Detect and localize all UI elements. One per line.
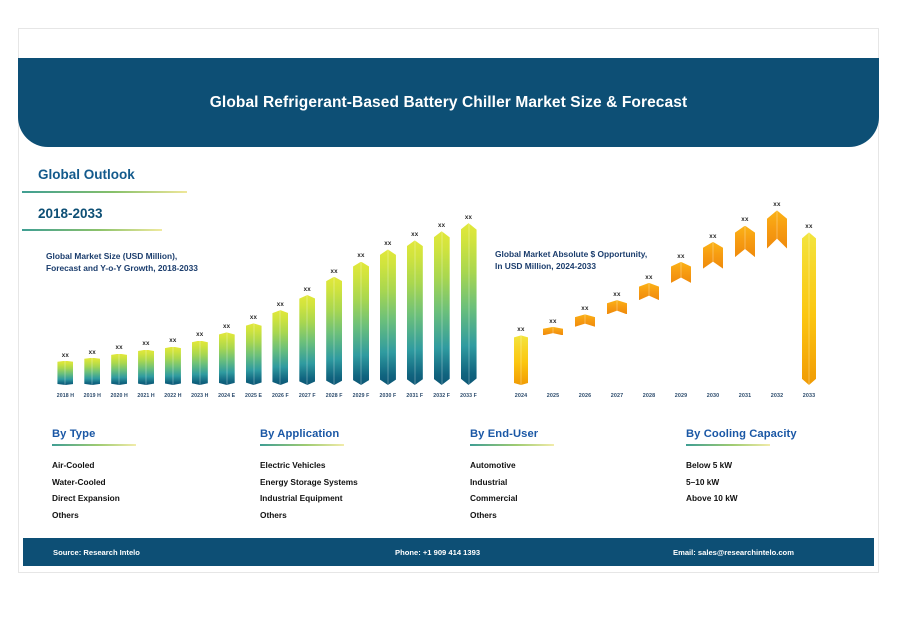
x-axis-tick: 2027 F [299, 394, 316, 399]
bar-value-label: xx [330, 269, 337, 275]
bar-2030: xx [697, 234, 729, 269]
bar-value-label: xx [709, 234, 716, 240]
bar-column [671, 262, 691, 283]
bar-2023-h: xx [186, 332, 213, 385]
bar-2019-h: xx [79, 350, 106, 386]
list-item: Electric Vehicles [260, 457, 358, 474]
x-axis-tick: 2031 [739, 394, 751, 399]
x-axis-tick: 2024 E [218, 394, 235, 399]
x-axis-tick: 2031 F [406, 394, 423, 399]
bar-value-label: xx [805, 224, 812, 230]
bar-column [767, 210, 787, 248]
bar-column [165, 347, 181, 385]
segment-underline [686, 444, 770, 446]
bar-value-label: xx [613, 292, 620, 298]
bar-value-label: xx [465, 215, 472, 221]
x-axis-tick: 2026 [579, 394, 591, 399]
bar-column [138, 350, 154, 385]
bar-2028: xx [633, 275, 665, 300]
x-axis-tick: 2028 [643, 394, 655, 399]
x-axis-tick: 2020 H [111, 394, 128, 399]
bar-column [192, 341, 208, 386]
segment-by-cooling-capacity: By Cooling Capacity Below 5 kW 5–10 kW A… [686, 428, 797, 507]
bar-2028-f: xx [321, 269, 348, 385]
footer-phone: Phone: +1 909 414 1393 [395, 548, 480, 557]
list-item: Industrial Equipment [260, 490, 358, 507]
header-banner: Global Refrigerant-Based Battery Chiller… [18, 58, 879, 147]
global-market-size-chart: xx2018 Hxx2019 Hxx2020 Hxx2021 Hxx2022 H… [52, 196, 482, 401]
segment-list: Electric Vehicles Energy Storage Systems… [260, 457, 358, 523]
bar-column [703, 242, 723, 269]
bar-2025: xx [537, 319, 569, 336]
global-outlook-underline [22, 191, 187, 193]
bar-value-label: xx [517, 327, 524, 333]
bar-column [353, 262, 369, 385]
list-item: 5–10 kW [686, 474, 797, 491]
x-axis-tick: 2030 [707, 394, 719, 399]
bar-value-label: xx [645, 275, 652, 281]
segment-by-type: By Type Air-Cooled Water-Cooled Direct E… [52, 428, 136, 523]
bar-value-label: xx [250, 315, 257, 321]
bar-2027-f: xx [294, 287, 321, 385]
bar-value-label: xx [677, 254, 684, 260]
segment-title: By End-User [470, 428, 554, 440]
segment-title: By Type [52, 428, 136, 440]
segment-by-application: By Application Electric Vehicles Energy … [260, 428, 358, 523]
bar-value-label: xx [169, 338, 176, 344]
bar-2018-h: xx [52, 353, 79, 385]
footer-email: Email: sales@researchintelo.com [673, 548, 794, 557]
segment-underline [52, 444, 136, 446]
bar-column [575, 314, 595, 326]
bar-column [326, 277, 342, 385]
bar-2033: xx [793, 224, 825, 385]
x-axis-tick: 2021 H [137, 394, 154, 399]
bar-2022-h: xx [160, 338, 187, 385]
bar-value-label: xx [581, 306, 588, 312]
segment-list: Air-Cooled Water-Cooled Direct Expansion… [52, 457, 136, 523]
x-axis-tick: 2019 H [84, 394, 101, 399]
bar-column [219, 332, 235, 385]
bar-value-label: xx [62, 353, 69, 359]
x-axis-tick: 2029 [675, 394, 687, 399]
bar-2020-h: xx [106, 345, 133, 385]
bar-column [639, 283, 659, 300]
segment-list: Automotive Industrial Commercial Others [470, 457, 554, 523]
segment-list: Below 5 kW 5–10 kW Above 10 kW [686, 457, 797, 507]
x-axis-tick: 2033 F [460, 394, 477, 399]
bar-value-label: xx [142, 341, 149, 347]
segment-by-end-user: By End-User Automotive Industrial Commer… [470, 428, 554, 523]
list-item: Below 5 kW [686, 457, 797, 474]
bar-value-label: xx [304, 287, 311, 293]
bar-value-label: xx [411, 232, 418, 238]
x-axis-tick: 2026 F [272, 394, 289, 399]
list-item: Commercial [470, 490, 554, 507]
bar-column [111, 354, 127, 385]
x-axis-tick: 2025 E [245, 394, 262, 399]
bar-2024: xx [505, 327, 537, 385]
footer-source: Source: Research Intelo [53, 548, 140, 557]
bar-column [407, 240, 423, 385]
bar-2027: xx [601, 292, 633, 315]
segment-underline [260, 444, 344, 446]
bar-value-label: xx [115, 345, 122, 351]
bar-2030-f: xx [375, 241, 402, 385]
bar-value-label: xx [357, 253, 364, 259]
bar-column [272, 310, 288, 385]
list-item: Air-Cooled [52, 457, 136, 474]
bar-value-label: xx [223, 324, 230, 330]
x-axis-tick: 2024 [515, 394, 527, 399]
page-title: Global Refrigerant-Based Battery Chiller… [210, 94, 687, 112]
bar-column [380, 249, 396, 385]
bar-2026: xx [569, 306, 601, 327]
absolute-opportunity-chart: xx2024xx2025xx2026xx2027xx2028xx2029xx20… [505, 206, 825, 401]
bar-value-label: xx [773, 202, 780, 208]
list-item: Energy Storage Systems [260, 474, 358, 491]
list-item: Others [470, 507, 554, 524]
list-item: Above 10 kW [686, 490, 797, 507]
bar-column [246, 323, 262, 385]
x-axis-tick: 2030 F [380, 394, 397, 399]
list-item: Others [52, 507, 136, 524]
bar-value-label: xx [741, 217, 748, 223]
list-item: Others [260, 507, 358, 524]
list-item: Automotive [470, 457, 554, 474]
bar-2031: xx [729, 217, 761, 257]
bar-2031-f: xx [401, 232, 428, 385]
bar-column [514, 335, 528, 385]
list-item: Direct Expansion [52, 490, 136, 507]
bar-column [543, 327, 563, 336]
x-axis-tick: 2023 H [191, 394, 208, 399]
bar-column [607, 300, 627, 314]
bar-2033-f: xx [455, 215, 482, 385]
bar-column [84, 358, 100, 385]
footer-bar: Source: Research Intelo Phone: +1 909 41… [23, 538, 874, 566]
bar-value-label: xx [549, 319, 556, 325]
x-axis-tick: 2028 F [326, 394, 343, 399]
list-item: Water-Cooled [52, 474, 136, 491]
bar-2029: xx [665, 254, 697, 283]
x-axis-tick: 2022 H [164, 394, 181, 399]
bar-value-label: xx [89, 350, 96, 356]
bar-column [299, 295, 315, 385]
global-outlook-label: Global Outlook [38, 167, 135, 182]
x-axis-tick: 2033 [803, 394, 815, 399]
bar-value-label: xx [438, 223, 445, 229]
bar-column [461, 223, 477, 385]
bar-2029-f: xx [348, 253, 375, 385]
segment-underline [470, 444, 554, 446]
bar-2024-e: xx [213, 324, 240, 385]
bar-column [802, 232, 816, 385]
x-axis-tick: 2025 [547, 394, 559, 399]
x-axis-tick: 2018 H [57, 394, 74, 399]
x-axis-tick: 2027 [611, 394, 623, 399]
bar-column [434, 231, 450, 385]
bar-value-label: xx [384, 241, 391, 247]
bar-2032-f: xx [428, 223, 455, 385]
x-axis-tick: 2029 F [353, 394, 370, 399]
bar-2032: xx [761, 202, 793, 248]
bar-column [735, 226, 755, 257]
segment-title: By Application [260, 428, 358, 440]
bar-value-label: xx [277, 302, 284, 308]
list-item: Industrial [470, 474, 554, 491]
bar-column [57, 361, 73, 385]
bar-2025-e: xx [240, 315, 267, 385]
bar-2021-h: xx [133, 341, 160, 385]
x-axis-tick: 2032 F [433, 394, 450, 399]
x-axis-tick: 2032 [771, 394, 783, 399]
bar-2026-f: xx [267, 302, 294, 385]
segment-title: By Cooling Capacity [686, 428, 797, 440]
bar-value-label: xx [196, 332, 203, 338]
